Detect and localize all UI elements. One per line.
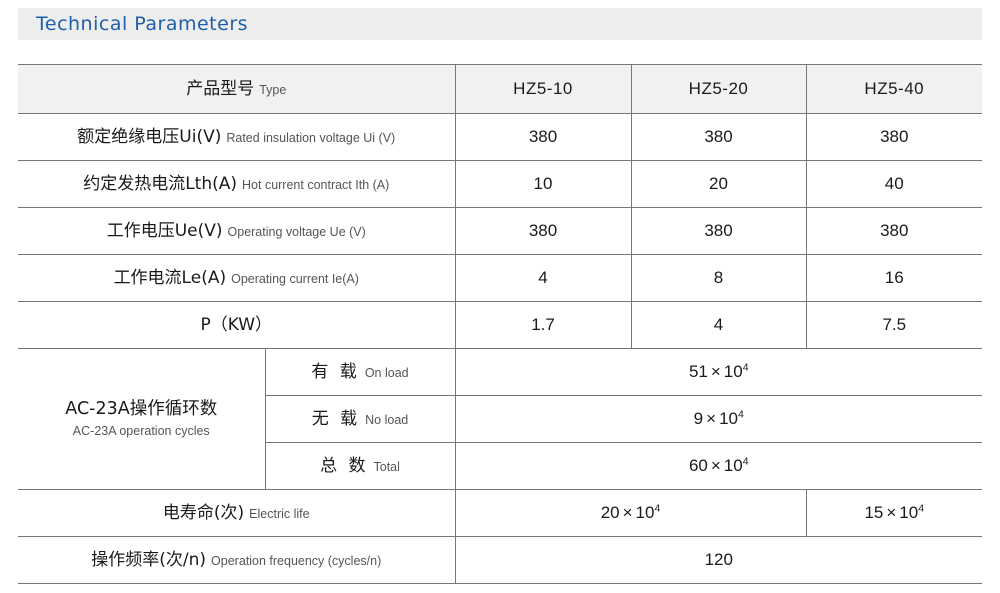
cell-value: 380 [806, 114, 982, 161]
row-label-cn: 操作频率(次/n) [91, 550, 206, 570]
cell-value: 8 [631, 255, 806, 302]
multiply-symbol: × [711, 456, 721, 475]
sub-row-label-cn: 无 载 [312, 409, 360, 429]
cell-value: 380 [806, 208, 982, 255]
table-row: P（KW） 1.7 4 7.5 [18, 302, 982, 349]
cell-value: 4 [631, 302, 806, 349]
row-label-cn: P（KW） [200, 315, 272, 335]
cell-value: 380 [631, 208, 806, 255]
row-label-electric-life: 电寿命(次)Electric life [18, 490, 455, 537]
row-label-cn: 电寿命(次) [163, 503, 244, 523]
sub-row-label-no-load: 无 载No load [265, 396, 455, 443]
cell-value-electric-life-left: 20×104 [455, 490, 806, 537]
technical-parameters-table: 产品型号Type HZ5-10 HZ5-20 HZ5-40 额定绝缘电压Ui(V… [18, 64, 982, 584]
multiply-symbol: × [623, 503, 633, 522]
table-header-row: 产品型号Type HZ5-10 HZ5-20 HZ5-40 [18, 65, 982, 114]
value-mantissa: 9 [694, 409, 703, 428]
value-exponent: 4 [743, 361, 749, 373]
row-label-en: Operating voltage Ue (V) [228, 225, 366, 239]
row-label-en: Operation frequency (cycles/n) [211, 554, 381, 568]
cell-value: 16 [806, 255, 982, 302]
row-label-en: Electric life [249, 507, 309, 521]
row-label-operating-current: 工作电流Le(A)Operating current Ie(A) [18, 255, 455, 302]
value-exponent: 4 [743, 455, 749, 467]
value-mantissa: 20 [601, 503, 620, 522]
header-type-en: Type [259, 83, 286, 97]
header-cell-type: 产品型号Type [18, 65, 455, 114]
value-exponent: 4 [738, 408, 744, 420]
page-title: Technical Parameters [36, 13, 248, 35]
cell-value: 40 [806, 161, 982, 208]
cell-value: 4 [455, 255, 631, 302]
value-exponent: 4 [654, 502, 660, 514]
value-exponent: 4 [918, 502, 924, 514]
row-label-cn: 约定发热电流Lth(A) [83, 174, 237, 194]
row-label-en: Hot current contract Ith (A) [242, 178, 389, 192]
row-label-ac23a-operation-cycles: AC-23A操作循环数 AC-23A operation cycles [18, 349, 265, 490]
value-base: 10 [724, 456, 743, 475]
header-cell-model-1: HZ5-10 [455, 65, 631, 114]
value-base: 10 [899, 503, 918, 522]
cell-value: 380 [455, 208, 631, 255]
value-base: 10 [724, 362, 743, 381]
cell-value: 380 [631, 114, 806, 161]
value-mantissa: 15 [864, 503, 883, 522]
value-base: 10 [719, 409, 738, 428]
sub-row-label-en: No load [365, 413, 408, 427]
table-row: 约定发热电流Lth(A)Hot current contract Ith (A)… [18, 161, 982, 208]
cell-value: 1.7 [455, 302, 631, 349]
header-type-cn: 产品型号 [186, 79, 254, 99]
row-label-en: Rated insulation voltage Ui (V) [226, 131, 395, 145]
multiply-symbol: × [886, 503, 896, 522]
row-label-cn: 工作电压Ue(V) [107, 221, 223, 241]
sub-row-label-en: On load [365, 366, 409, 380]
row-label-cn: 额定绝缘电压Ui(V) [77, 127, 221, 147]
cell-value-operation-frequency: 120 [455, 537, 982, 584]
sub-row-label-total: 总 数Total [265, 443, 455, 490]
value-mantissa: 51 [689, 362, 708, 381]
cell-value-no-load: 9×104 [455, 396, 982, 443]
cell-value: 20 [631, 161, 806, 208]
sub-row-label-on-load: 有 载On load [265, 349, 455, 396]
header-cell-model-2: HZ5-20 [631, 65, 806, 114]
row-label-rated-insulation-voltage: 额定绝缘电压Ui(V)Rated insulation voltage Ui (… [18, 114, 455, 161]
section-title-band: Technical Parameters [18, 8, 982, 40]
table-row: 工作电压Ue(V)Operating voltage Ue (V) 380 38… [18, 208, 982, 255]
value-base: 10 [636, 503, 655, 522]
cell-value: 10 [455, 161, 631, 208]
multiply-symbol: × [711, 362, 721, 381]
row-label-cn: 工作电流Le(A) [114, 268, 227, 288]
sub-row-label-cn: 有 载 [311, 362, 359, 382]
header-cell-model-3: HZ5-40 [806, 65, 982, 114]
cell-value-total: 60×104 [455, 443, 982, 490]
sub-row-label-cn: 总 数 [320, 456, 368, 476]
cell-value: 380 [455, 114, 631, 161]
row-label-hot-current-contract: 约定发热电流Lth(A)Hot current contract Ith (A) [18, 161, 455, 208]
cell-value: 7.5 [806, 302, 982, 349]
sub-row-label-en: Total [374, 460, 400, 474]
value-mantissa: 60 [689, 456, 708, 475]
cycles-group-label-en: AC-23A operation cycles [18, 424, 265, 440]
table-row: 工作电流Le(A)Operating current Ie(A) 4 8 16 [18, 255, 982, 302]
cell-value-on-load: 51×104 [455, 349, 982, 396]
cell-value-electric-life-right: 15×104 [806, 490, 982, 537]
multiply-symbol: × [706, 409, 716, 428]
table-row: 电寿命(次)Electric life 20×104 15×104 [18, 490, 982, 537]
cycles-group-label-cn: AC-23A操作循环数 [18, 399, 265, 421]
row-label-operating-voltage: 工作电压Ue(V)Operating voltage Ue (V) [18, 208, 455, 255]
row-label-operation-frequency: 操作频率(次/n)Operation frequency (cycles/n) [18, 537, 455, 584]
table-row: 操作频率(次/n)Operation frequency (cycles/n) … [18, 537, 982, 584]
row-label-power-kw: P（KW） [18, 302, 455, 349]
row-label-en: Operating current Ie(A) [231, 272, 359, 286]
table-row: 额定绝缘电压Ui(V)Rated insulation voltage Ui (… [18, 114, 982, 161]
table-row: AC-23A操作循环数 AC-23A operation cycles 有 载O… [18, 349, 982, 396]
